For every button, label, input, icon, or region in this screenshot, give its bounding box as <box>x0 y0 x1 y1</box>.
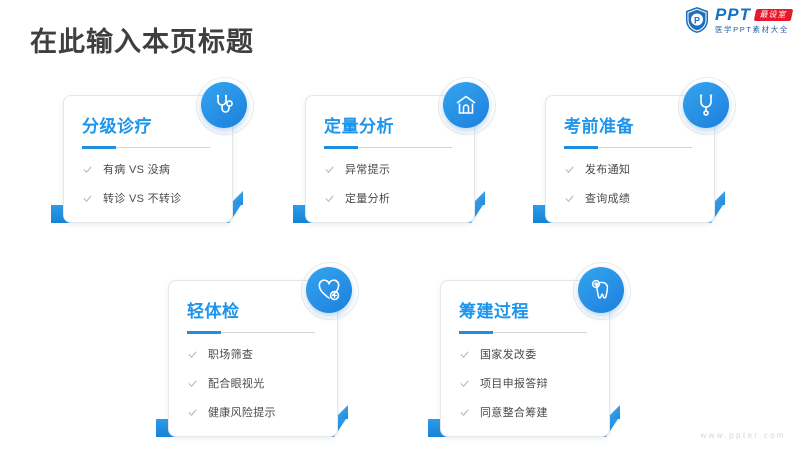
hospital-home-glyph <box>454 93 478 117</box>
check-icon <box>459 407 470 418</box>
list-item-label: 有病 VS 没病 <box>103 161 170 177</box>
card-rule <box>459 331 587 334</box>
check-icon <box>459 349 470 360</box>
list-item-label: 项目申报答辩 <box>480 375 548 391</box>
check-icon <box>459 378 470 389</box>
check-icon <box>324 193 335 204</box>
card-定量分析[interactable]: 定量分析 异常提示 定量分析 <box>305 95 475 223</box>
stethoscope-icon[interactable] <box>201 82 247 128</box>
logo-ppt-text: PPT <box>715 6 751 23</box>
card-考前准备[interactable]: 考前准备 发布通知 查询成绩 <box>545 95 715 223</box>
list-item-label: 同意整合筹建 <box>480 404 548 420</box>
check-icon <box>82 193 93 204</box>
card-筹建过程[interactable]: 筹建过程 国家发改委 项目申报答辩 同意整合筹建 <box>440 280 610 437</box>
list-item[interactable]: 定量分析 <box>324 190 460 206</box>
list-item[interactable]: 项目申报答辩 <box>459 375 595 391</box>
list-item[interactable]: 发布通知 <box>564 161 700 177</box>
card-rule <box>324 146 452 149</box>
shield-icon: P <box>684 6 710 34</box>
list-item[interactable]: 有病 VS 没病 <box>82 161 218 177</box>
check-icon <box>324 164 335 175</box>
list-item-label: 国家发改委 <box>480 346 537 362</box>
footer-url: www.ppter.com <box>701 431 786 440</box>
heart-plus-glyph <box>317 278 341 302</box>
list-item-label: 配合眼视光 <box>208 375 265 391</box>
stethoscope-alt-glyph <box>694 93 718 117</box>
list-item[interactable]: 转诊 VS 不转诊 <box>82 190 218 206</box>
card-rule <box>82 146 210 149</box>
hospital-home-icon[interactable] <box>443 82 489 128</box>
list-item-label: 查询成绩 <box>585 190 630 206</box>
check-icon <box>564 164 575 175</box>
list-item-label: 发布通知 <box>585 161 630 177</box>
list-item[interactable]: 国家发改委 <box>459 346 595 362</box>
card-rule <box>564 146 692 149</box>
check-icon <box>564 193 575 204</box>
list-item-label: 职场筛查 <box>208 346 253 362</box>
check-icon <box>187 349 198 360</box>
svg-text:P: P <box>694 15 700 25</box>
card-rule <box>187 331 315 334</box>
list-item[interactable]: 查询成绩 <box>564 190 700 206</box>
stethoscope-alt-icon[interactable] <box>683 82 729 128</box>
list-item[interactable]: 健康风险提示 <box>187 404 323 420</box>
page-title: 在此输入本页标题 <box>30 20 254 59</box>
stethoscope-glyph <box>212 93 236 117</box>
tooth-plus-icon[interactable] <box>578 267 624 313</box>
check-icon <box>187 378 198 389</box>
heart-plus-icon[interactable] <box>306 267 352 313</box>
list-item[interactable]: 配合眼视光 <box>187 375 323 391</box>
list-item-label: 异常提示 <box>345 161 390 177</box>
check-icon <box>187 407 198 418</box>
list-item[interactable]: 异常提示 <box>324 161 460 177</box>
check-icon <box>82 164 93 175</box>
list-item[interactable]: 同意整合筹建 <box>459 404 595 420</box>
list-item-label: 转诊 VS 不转诊 <box>103 190 182 206</box>
brand-logo: P PPT 最设室 医学PPT素材大全 <box>684 6 792 34</box>
logo-badge: 最设室 <box>754 9 794 21</box>
tooth-plus-glyph <box>589 278 613 302</box>
list-item-label: 健康风险提示 <box>208 404 276 420</box>
card-轻体检[interactable]: 轻体检 职场筛查 配合眼视光 健康风险提示 <box>168 280 338 437</box>
list-item-label: 定量分析 <box>345 190 390 206</box>
logo-subtitle: 医学PPT素材大全 <box>715 26 792 34</box>
card-分级诊疗[interactable]: 分级诊疗 有病 VS 没病 转诊 VS 不转诊 <box>63 95 233 223</box>
logo-text-block: PPT 最设室 医学PPT素材大全 <box>715 6 792 34</box>
list-item[interactable]: 职场筛查 <box>187 346 323 362</box>
